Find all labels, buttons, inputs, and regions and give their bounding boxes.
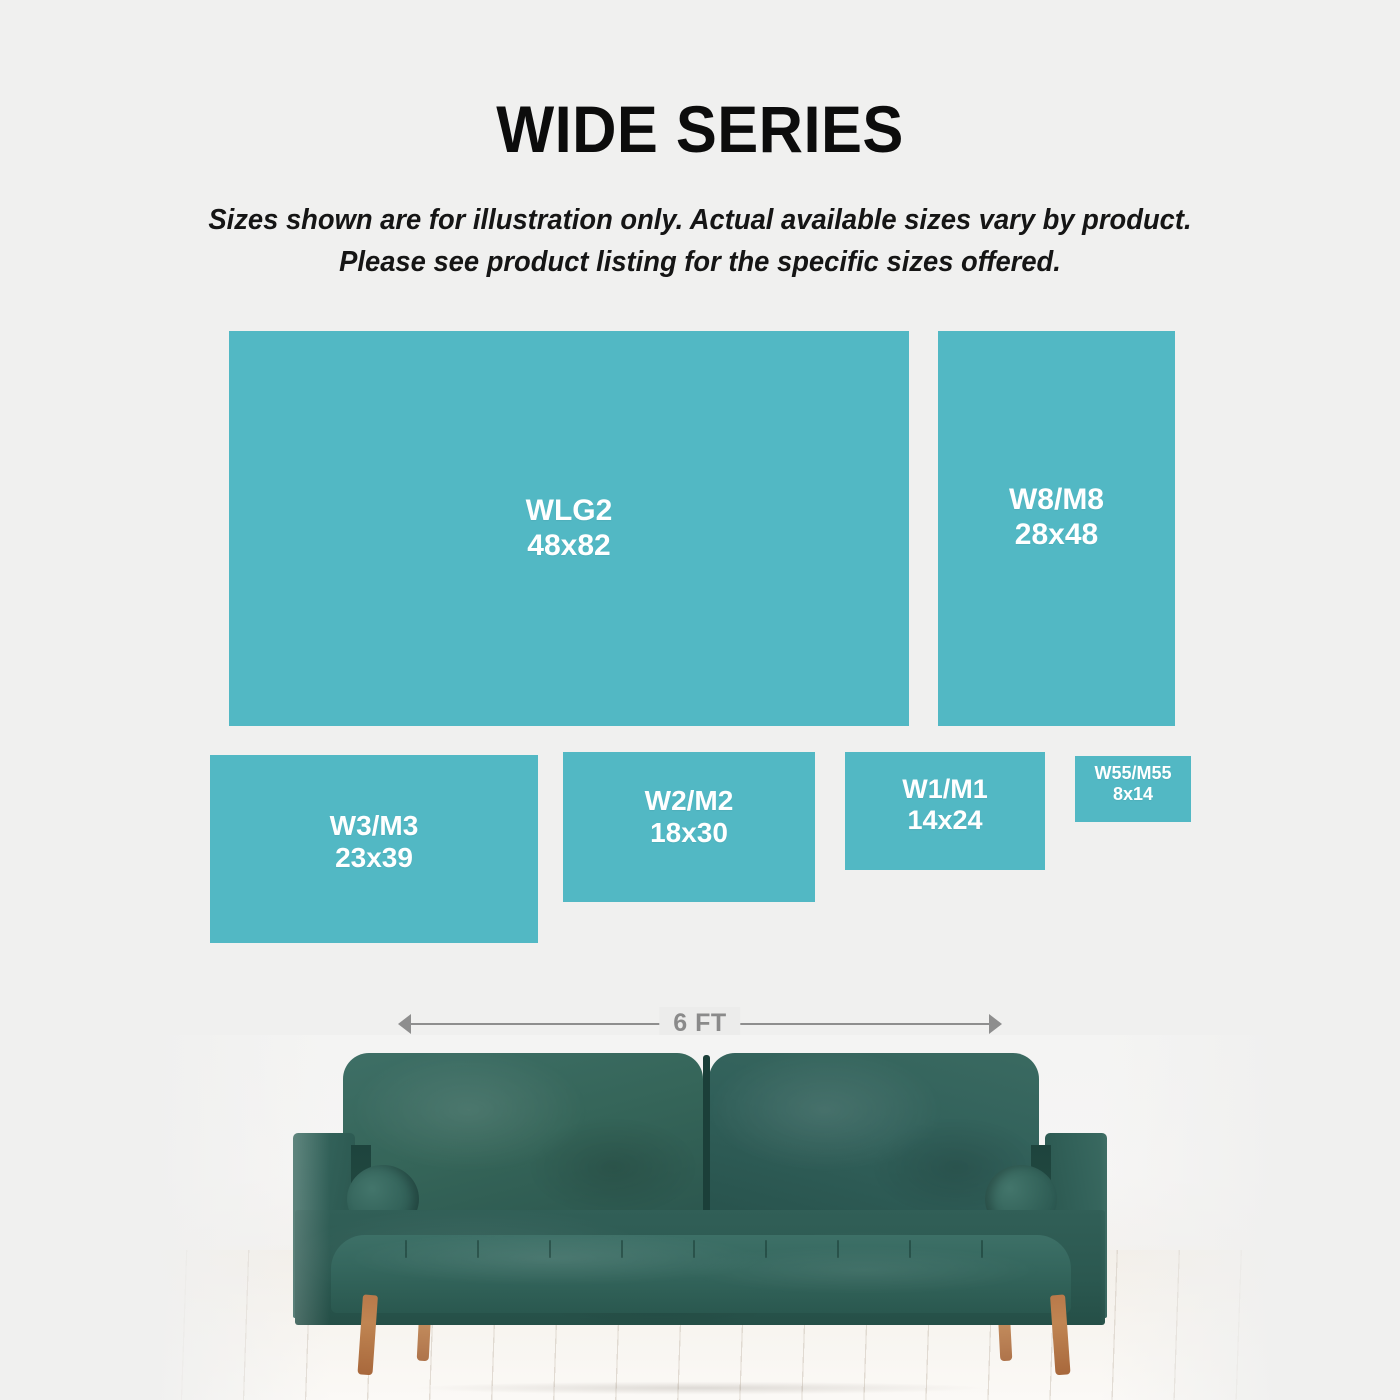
sofa-tuft-mark: [981, 1240, 983, 1258]
sofa-reference-photo: [0, 1035, 1400, 1400]
size-panel-w3-m3[interactable]: W3/M3 23x39: [210, 755, 538, 943]
subtitle-line-1: Sizes shown are for illustration only. A…: [28, 200, 1372, 242]
sofa-tuft-mark: [477, 1240, 479, 1258]
sofa-tuft-mark: [621, 1240, 623, 1258]
page-subtitle: Sizes shown are for illustration only. A…: [28, 200, 1372, 284]
sofa-floor-shadow: [300, 1380, 1100, 1396]
sofa-seat-tufting: [405, 1240, 1005, 1262]
photo-fade-left: [0, 1035, 330, 1400]
sofa-illustration: [285, 1035, 1115, 1375]
size-panel-wlg2[interactable]: WLG2 48x82: [229, 331, 909, 726]
size-panel-w2-m2[interactable]: W2/M2 18x30: [563, 752, 815, 902]
size-panel-code: W55/M55: [1094, 763, 1171, 784]
size-guide-canvas: WIDE SERIES Sizes shown are for illustra…: [0, 0, 1400, 1400]
size-panel-dims: 8x14: [1113, 784, 1153, 805]
size-panel-w1-m1[interactable]: W1/M1 14x24: [845, 752, 1045, 870]
sofa-tuft-mark: [765, 1240, 767, 1258]
arrow-right-icon: [989, 1014, 1002, 1034]
size-panel-w8-m8[interactable]: W8/M8 28x48: [938, 331, 1175, 726]
sofa-tuft-mark: [549, 1240, 551, 1258]
size-panel-code: WLG2: [526, 494, 613, 529]
sofa-tuft-mark: [405, 1240, 407, 1258]
subtitle-line-2: Please see product listing for the speci…: [28, 242, 1372, 284]
sofa-tuft-mark: [837, 1240, 839, 1258]
sofa-tuft-mark: [909, 1240, 911, 1258]
size-panel-code: W2/M2: [645, 785, 734, 817]
size-panel-code: W8/M8: [1009, 483, 1104, 518]
size-panel-dims: 23x39: [335, 842, 413, 874]
size-panel-w55-m55[interactable]: W55/M55 8x14: [1075, 756, 1191, 822]
sofa-tuft-mark: [693, 1240, 695, 1258]
size-panel-dims: 14x24: [907, 805, 982, 836]
size-panel-code: W1/M1: [902, 774, 988, 805]
size-panel-dims: 18x30: [650, 817, 728, 849]
photo-fade-right: [1100, 1035, 1400, 1400]
page-title: WIDE SERIES: [49, 96, 1351, 162]
size-panel-code: W3/M3: [330, 810, 419, 842]
size-panel-dims: 48x82: [527, 529, 610, 564]
size-panel-dims: 28x48: [1015, 518, 1098, 553]
